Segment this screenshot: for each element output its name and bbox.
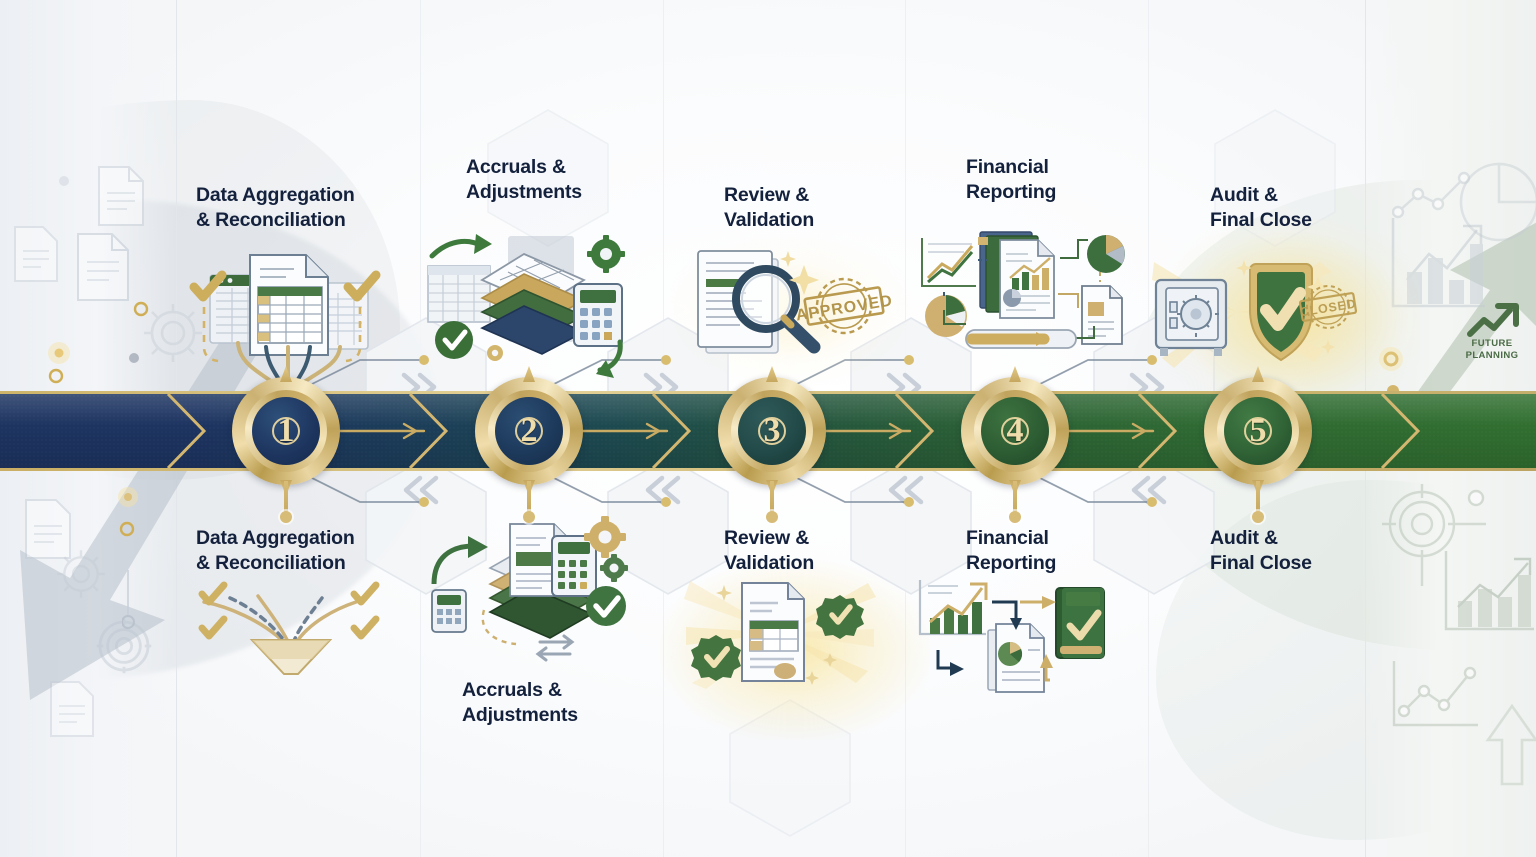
node-stem-dot [523,511,535,523]
timeline-node-5[interactable]: 5 [1204,377,1312,485]
step-1-bottom-label: Data Aggregation & Reconciliation [196,526,355,576]
step-number: 2 [521,414,538,448]
node-stem-dot [766,511,778,523]
step2-illustration-bottom [428,518,628,668]
step2-illustration-top [424,232,628,382]
step1-illustration-top [188,243,388,393]
infographic-canvas: APPROVED [0,0,1536,857]
step-3-bottom-label: Review & Validation [724,526,814,576]
timeline-node-2[interactable]: 2 [475,377,583,485]
step-2-top-label: Accruals & Adjustments [466,155,582,205]
step-2-bottom-label: Accruals & Adjustments [462,678,578,728]
step-number: 3 [764,414,781,448]
step4-illustration-top [908,228,1133,368]
step3-illustration-bottom [680,575,880,690]
node-stem [1013,481,1017,515]
step-number: 1 [278,414,295,448]
timeline-node-1[interactable]: 1 [232,377,340,485]
step-5-bottom-label: Audit & Final Close [1210,526,1312,576]
node-core: 5 [1224,397,1292,465]
step-5-top-label: Audit & Final Close [1210,183,1312,233]
node-core: 3 [738,397,806,465]
node-core: 4 [981,397,1049,465]
step-3-top-label: Review & Validation [724,183,814,233]
step-4-bottom-label: Financial Reporting [966,526,1056,576]
node-spike-top [766,366,778,382]
node-stem [1256,481,1260,515]
node-core: 1 [252,397,320,465]
node-stem-dot [1252,511,1264,523]
node-stem [284,481,288,515]
future-planning-arrow-icon [1466,300,1522,342]
closed-stamp-icon: CLOSED [1291,278,1366,336]
step1-illustration-bottom [196,588,386,678]
step-4-top-label: Financial Reporting [966,155,1056,205]
node-stem-dot [280,511,292,523]
node-stem-dot [1009,511,1021,523]
step-number: 5 [1250,414,1267,448]
timeline-node-4[interactable]: 4 [961,377,1069,485]
step-number: 4 [1007,414,1024,448]
node-core: 2 [495,397,563,465]
future-planning-label: FUTURE PLANNING [1452,338,1532,362]
node-stem [770,481,774,515]
node-stem [527,481,531,515]
step4-illustration-bottom [908,572,1108,692]
step-1-top-label: Data Aggregation & Reconciliation [196,183,355,233]
node-spike-top [1009,366,1021,382]
timeline-node-3[interactable]: 3 [718,377,826,485]
